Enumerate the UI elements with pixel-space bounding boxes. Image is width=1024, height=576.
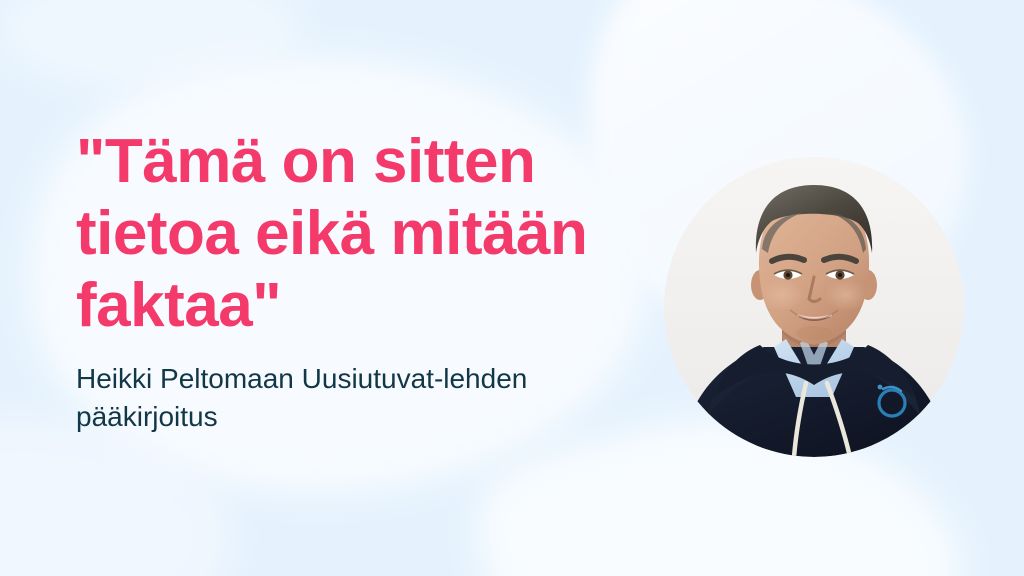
portrait-illustration <box>664 157 964 457</box>
quote-card: "Tämä on sitten tietoa eikä mitään fakta… <box>0 0 1024 576</box>
quote-text-block: "Tämä on sitten tietoa eikä mitään fakta… <box>76 126 616 436</box>
blob-top-left <box>0 0 300 90</box>
chin-shadow <box>796 326 832 340</box>
cheek-right <box>824 279 868 311</box>
attribution-text: Heikki Peltomaan Uusiutuvat-lehden pääki… <box>76 360 616 436</box>
blob-bottom-center <box>478 420 960 576</box>
quote-line-1: "Tämä on sitten <box>76 126 616 198</box>
quote-line-3: faktaa" <box>76 270 616 342</box>
quote-line-2: tietoa eikä mitään <box>76 198 616 270</box>
cheek-left <box>760 279 804 311</box>
portrait-avatar <box>664 157 964 457</box>
blob-bottom-left <box>0 418 230 576</box>
